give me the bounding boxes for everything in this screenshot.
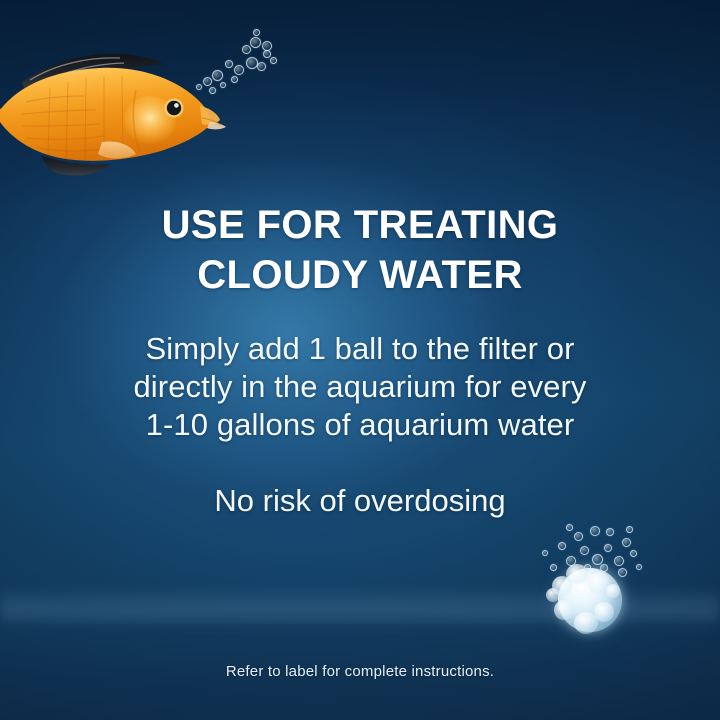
footnote-text: Refer to label for complete instructions… xyxy=(0,663,720,680)
bubble xyxy=(196,84,202,90)
bubble xyxy=(253,29,260,36)
headline: USE FOR TREATING CLOUDY WATER xyxy=(0,200,720,300)
bubble xyxy=(257,62,266,71)
instructions-text: Simply add 1 ball to the filter or direc… xyxy=(0,330,720,444)
bubble xyxy=(558,542,566,550)
bubble xyxy=(262,41,272,51)
bubble xyxy=(542,550,548,556)
ball-foam xyxy=(606,584,620,598)
bubble xyxy=(234,65,244,75)
bubble xyxy=(566,524,573,531)
bubble xyxy=(584,564,591,571)
aquarium-product-poster: USE FOR TREATING CLOUDY WATER Simply add… xyxy=(0,0,720,720)
bubble xyxy=(592,554,603,565)
bubble xyxy=(626,526,633,533)
effervescent-ball-image xyxy=(536,520,676,640)
ball-foam xyxy=(594,602,614,622)
bubble xyxy=(636,564,642,570)
bubble xyxy=(263,50,271,58)
headline-line-1: USE FOR TREATING xyxy=(0,200,720,250)
bubble xyxy=(203,77,212,86)
bubble xyxy=(630,550,637,557)
instructions-line-2: directly in the aquarium for every xyxy=(0,368,720,406)
bubble xyxy=(600,564,608,572)
instructions-line-1: Simply add 1 ball to the filter or xyxy=(0,330,720,368)
bubble xyxy=(270,57,277,64)
bubble xyxy=(614,556,624,566)
ball-foam xyxy=(546,588,560,602)
bubble xyxy=(618,568,627,577)
instructions-line-3: 1-10 gallons of aquarium water xyxy=(0,406,720,444)
bubble xyxy=(550,564,557,571)
ball-foam xyxy=(554,600,574,620)
bubble xyxy=(231,76,238,83)
bubble xyxy=(225,60,233,68)
bubble xyxy=(574,532,583,541)
bubble xyxy=(604,544,612,552)
bubble xyxy=(566,556,576,566)
bubble xyxy=(250,37,261,48)
bubble xyxy=(606,528,614,536)
bubble xyxy=(242,45,251,54)
no-overdose-text: No risk of overdosing xyxy=(0,482,720,520)
bubble xyxy=(220,82,226,88)
bubble xyxy=(209,87,216,94)
bubble xyxy=(580,546,589,555)
bubble xyxy=(212,70,223,81)
bubble xyxy=(590,526,600,536)
bubble xyxy=(622,538,631,547)
headline-line-2: CLOUDY WATER xyxy=(0,250,720,300)
